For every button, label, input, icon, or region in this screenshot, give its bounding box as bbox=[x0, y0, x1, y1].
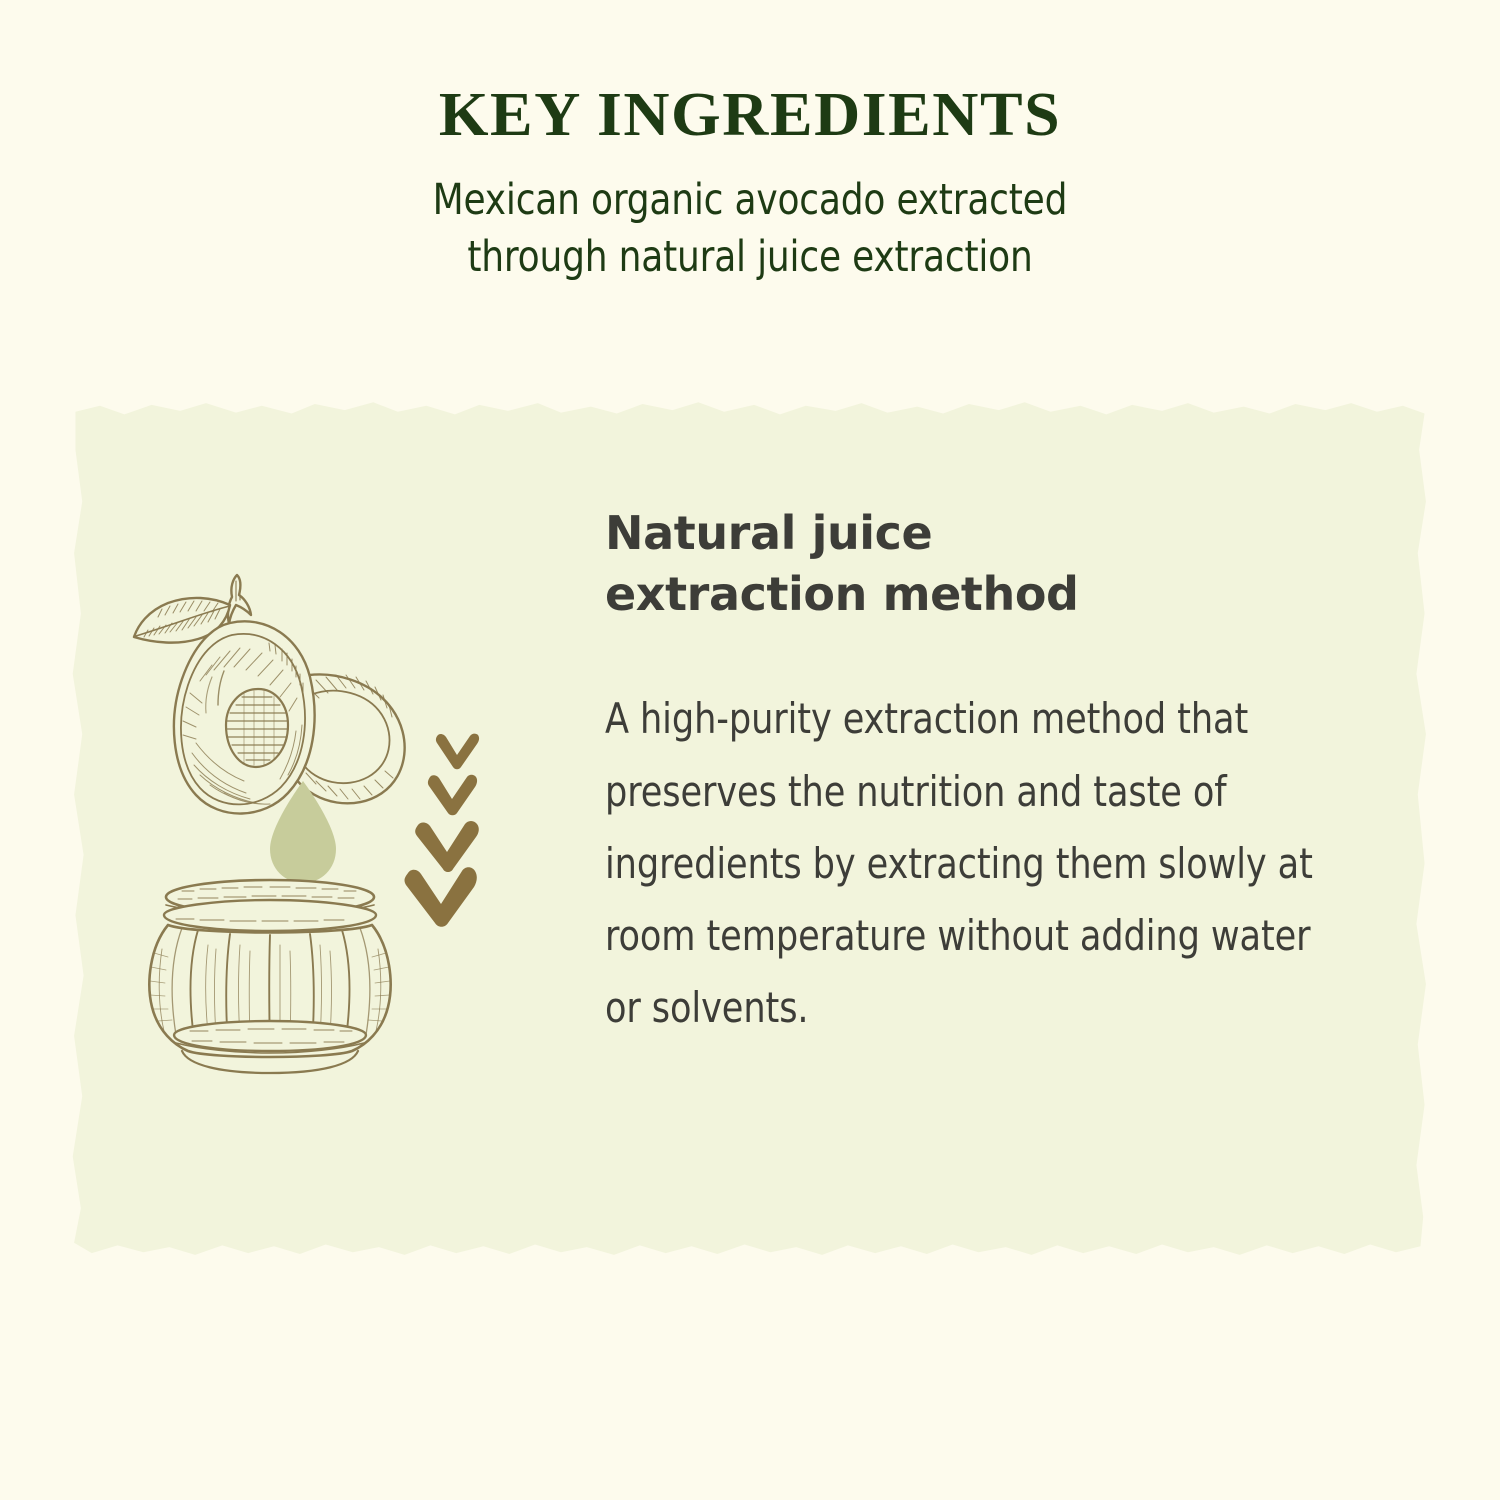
feature-heading: Natural juice extraction method bbox=[605, 503, 1395, 625]
page-subtitle-line-2: through natural juice extraction bbox=[53, 229, 1448, 286]
avocado-illustration bbox=[134, 575, 405, 814]
feature-heading-line-1: Natural juice bbox=[605, 506, 932, 560]
page-title: KEY INGREDIENTS bbox=[0, 84, 1500, 146]
page-header: KEY INGREDIENTS Mexican organic avocado … bbox=[0, 0, 1500, 286]
ingredient-illustration bbox=[120, 553, 550, 1098]
page-subtitle: Mexican organic avocado extracted throug… bbox=[53, 146, 1448, 286]
feature-text-block: Natural juice extraction method A high-p… bbox=[605, 503, 1395, 1045]
feature-body-text: A high-purity extraction method that pre… bbox=[605, 625, 1340, 1044]
page-subtitle-line-1: Mexican organic avocado extracted bbox=[53, 172, 1448, 229]
down-chevron-arrow-group bbox=[405, 734, 480, 927]
wooden-barrel bbox=[149, 880, 390, 1073]
down-chevron-icon-4 bbox=[405, 867, 477, 927]
feature-heading-line-2: extraction method bbox=[605, 567, 1079, 621]
feature-card: Natural juice extraction method A high-p… bbox=[70, 398, 1430, 1260]
down-chevron-icon-3 bbox=[415, 821, 479, 872]
down-chevron-icon-1 bbox=[436, 734, 479, 770]
down-chevron-icon-2 bbox=[428, 775, 477, 816]
